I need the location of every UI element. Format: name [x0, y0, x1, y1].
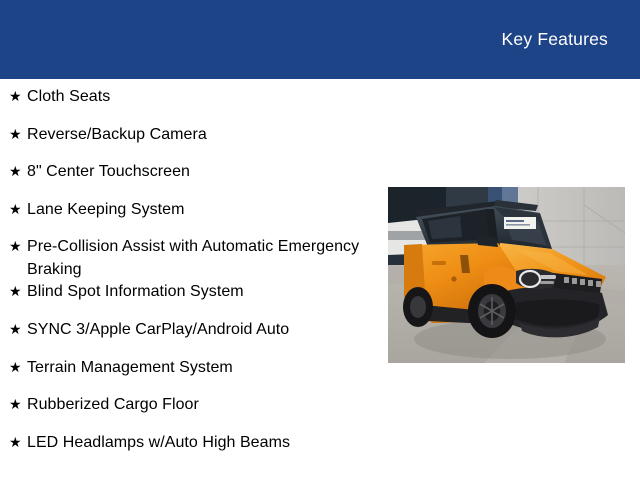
star-bullet-icon: ★ [9, 161, 27, 184]
list-item-label: Cloth Seats [27, 86, 372, 109]
list-item: ★ Blind Spot Information System [0, 281, 372, 319]
list-item: ★ Reverse/Backup Camera [0, 124, 372, 162]
vehicle-photo [388, 187, 625, 363]
list-item-label: Terrain Management System [27, 357, 372, 380]
list-item-label: LED Headlamps w/Auto High Beams [27, 432, 372, 455]
list-item: ★ Rubberized Cargo Floor [0, 394, 372, 432]
list-item-label: Rubberized Cargo Floor [27, 394, 372, 417]
vehicle-photo-illustration [388, 187, 625, 363]
key-features-list: ★ Cloth Seats ★ Reverse/Backup Camera ★ … [0, 86, 372, 469]
list-item-label: Reverse/Backup Camera [27, 124, 372, 147]
star-bullet-icon: ★ [9, 236, 27, 259]
list-item: ★ SYNC 3/Apple CarPlay/Android Auto [0, 319, 372, 357]
star-bullet-icon: ★ [9, 86, 27, 109]
list-item: ★ Cloth Seats [0, 86, 372, 124]
list-item-label: Pre-Collision Assist with Automatic Emer… [27, 236, 372, 281]
list-item: ★ Pre-Collision Assist with Automatic Em… [0, 236, 372, 281]
list-item-label: SYNC 3/Apple CarPlay/Android Auto [27, 319, 372, 342]
star-bullet-icon: ★ [9, 124, 27, 147]
key-features-slide: Key Features ★ Cloth Seats ★ Reverse/Bac… [0, 0, 640, 480]
star-bullet-icon: ★ [9, 432, 27, 455]
list-item-label: 8" Center Touchscreen [27, 161, 372, 184]
star-bullet-icon: ★ [9, 357, 27, 380]
list-item-label: Blind Spot Information System [27, 281, 372, 304]
list-item-label: Lane Keeping System [27, 199, 372, 222]
star-bullet-icon: ★ [9, 281, 27, 304]
star-bullet-icon: ★ [9, 199, 27, 222]
star-bullet-icon: ★ [9, 394, 27, 417]
star-bullet-icon: ★ [9, 319, 27, 342]
list-item: ★ LED Headlamps w/Auto High Beams [0, 432, 372, 470]
list-item: ★ Lane Keeping System [0, 199, 372, 237]
page-title: Key Features [502, 29, 608, 50]
list-item: ★ Terrain Management System [0, 357, 372, 395]
header-banner: Key Features [0, 0, 640, 79]
list-item: ★ 8" Center Touchscreen [0, 161, 372, 199]
